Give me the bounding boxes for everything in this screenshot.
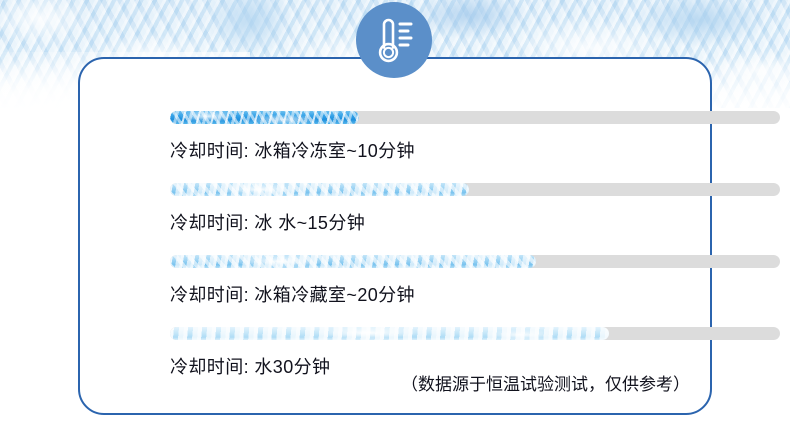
progress-fill xyxy=(170,111,359,124)
list-item: 冷却时间: 冰箱冷藏室~20分钟 xyxy=(170,255,780,327)
thermometer-icon xyxy=(371,14,417,66)
footnote-text: （数据源于恒温试验测试，仅供参考） xyxy=(401,370,690,395)
cooling-time-list: 冷却时间: 冰箱冷冻室~10分钟 冷却时间: 冰 水~15分钟 冷却时间: 冰箱… xyxy=(170,111,780,399)
list-item: 冷却时间: 冰 水~15分钟 xyxy=(170,183,780,255)
progress-track xyxy=(170,327,780,340)
list-item-label: 冷却时间: 冰 水~15分钟 xyxy=(170,209,365,235)
list-item: 冷却时间: 冰箱冷冻室~10分钟 xyxy=(170,111,780,183)
list-item-label: 冷却时间: 水30分钟 xyxy=(170,353,330,379)
progress-track xyxy=(170,111,780,124)
list-item-label: 冷却时间: 冰箱冷藏室~20分钟 xyxy=(170,281,415,307)
cooling-time-card: 冷却时间: 冰箱冷冻室~10分钟 冷却时间: 冰 水~15分钟 冷却时间: 冰箱… xyxy=(78,57,712,415)
thermometer-badge xyxy=(356,2,432,78)
progress-fill xyxy=(170,327,609,340)
list-item-label: 冷却时间: 冰箱冷冻室~10分钟 xyxy=(170,137,415,163)
progress-fill xyxy=(170,255,536,268)
progress-fill xyxy=(170,183,469,196)
progress-track xyxy=(170,183,780,196)
progress-track xyxy=(170,255,780,268)
